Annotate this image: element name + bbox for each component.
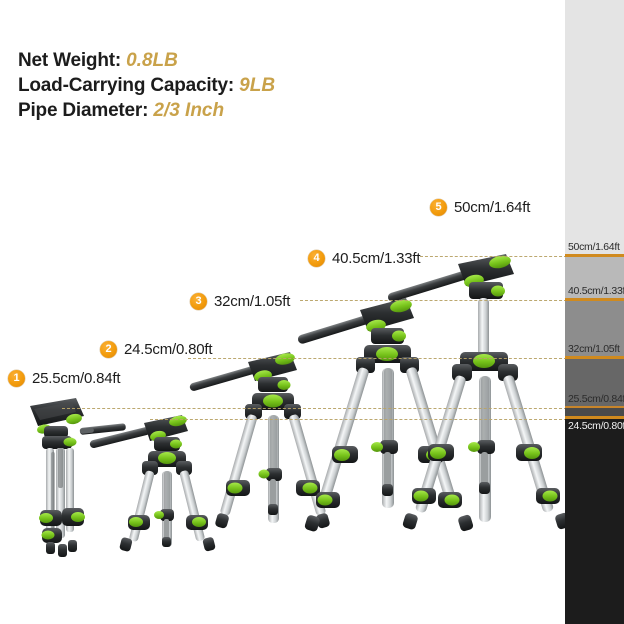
spec-row-load-capacity: Load-Carrying Capacity: 9LB [18,73,275,98]
guide-line-32cm [188,358,567,359]
badge-4: 4 [308,250,325,267]
guide-line-24-5cm [150,419,567,420]
center-column [478,298,489,360]
spec-value: 9LB [239,75,275,96]
badge-1: 1 [8,370,25,387]
pan-handle [387,268,474,302]
badge-3: 3 [190,293,207,310]
callout-1: 1 25.5cm/0.84ft [8,370,120,387]
spec-label: Net Weight: [18,50,121,71]
scale-separator-24-5cm [565,416,624,419]
pan-handle [189,364,260,392]
spec-list: Net Weight: 0.8LB Load-Carrying Capacity… [18,48,275,123]
guide-line-50cm [420,256,567,257]
spec-row-net-weight: Net Weight: 0.8LB [18,48,275,73]
guide-line-25-5cm [62,408,567,409]
scale-label-50cm: 50cm/1.64ft [568,241,620,253]
tripod-feet [46,540,77,557]
callout-4: 4 40.5cm/1.33ft [308,250,420,267]
callout-5: 5 50cm/1.64ft [430,199,530,216]
scale-label-40-5cm: 40.5cm/1.33ft [568,285,624,297]
badge-5: 5 [430,199,447,216]
callout-3-label: 32cm/1.05ft [214,293,290,310]
callout-5-label: 50cm/1.64ft [454,199,530,216]
infographic-canvas: Net Weight: 0.8LB Load-Carrying Capacity… [0,0,624,624]
scale-band-above-50cm [565,0,624,256]
spec-label: Load-Carrying Capacity: [18,75,234,96]
callout-1-label: 25.5cm/0.84ft [32,370,120,387]
scale-separator-25-5cm [565,406,624,408]
callout-3: 3 32cm/1.05ft [190,293,290,310]
scale-label-24-5cm: 24.5cm/0.80ft [568,420,624,432]
scale-separator-50cm [565,254,624,257]
scale-band-24-5cm [565,418,624,624]
badge-2: 2 [100,341,117,358]
tripod-head [30,398,84,438]
spec-value: 0.8LB [126,50,178,71]
callout-4-label: 40.5cm/1.33ft [332,250,420,267]
callout-2-label: 24.5cm/0.80ft [124,341,212,358]
scale-separator-40-5cm [565,298,624,301]
callout-2: 2 24.5cm/0.80ft [100,341,212,358]
tripod-head [458,254,514,299]
scale-label-25-5cm: 25.5cm/0.84ft [568,393,624,405]
pan-handle [89,426,151,449]
guide-line-40-5cm [300,300,567,301]
spec-label: Pipe Diameter: [18,100,148,121]
height-scale-bar: 50cm/1.64ft 40.5cm/1.33ft 32cm/1.05ft 25… [565,0,624,624]
scale-label-32cm: 32cm/1.05ft [568,343,620,355]
scale-separator-32cm [565,356,624,359]
spec-row-pipe-diameter: Pipe Diameter: 2/3 Inch [18,98,275,123]
spec-value: 2/3 Inch [153,100,224,121]
